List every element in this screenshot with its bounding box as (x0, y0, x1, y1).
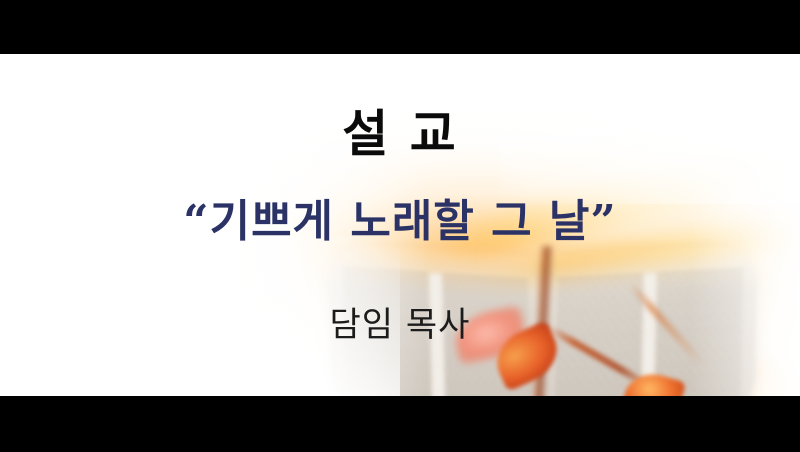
letterbox-top (0, 0, 800, 54)
sermon-subtitle: “기쁘게 노래할 그 날” (0, 185, 800, 249)
slide-text-layer: 설 교 “기쁘게 노래할 그 날” 담임 목사 (0, 54, 800, 396)
slide-canvas: 설 교 “기쁘게 노래할 그 날” 담임 목사 (0, 54, 800, 396)
slide-stage: 설 교 “기쁘게 노래할 그 날” 담임 목사 (0, 0, 800, 452)
sermon-speaker: 담임 목사 (0, 297, 800, 346)
sermon-title: 설 교 (0, 94, 800, 166)
letterbox-bottom (0, 396, 800, 452)
